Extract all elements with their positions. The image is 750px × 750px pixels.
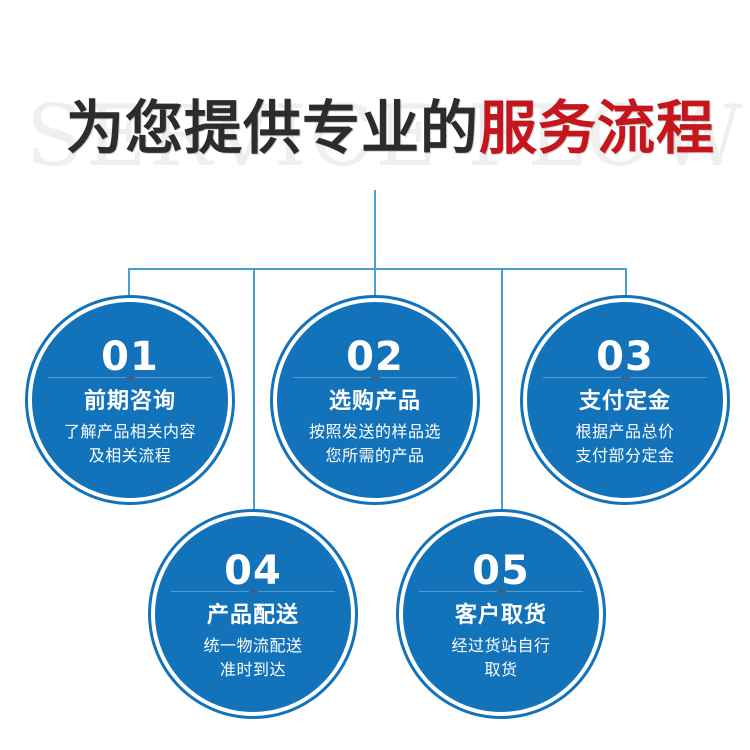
step-description-3-line-1: 根据产品总价 (539, 420, 712, 444)
service-flow-infographic: SERVICE FLOW 为您提供专业的服务流程 01 前期咨询 了解产品相关内… (0, 0, 750, 750)
step-dot-4 (249, 587, 258, 596)
step-dot-2 (371, 373, 380, 382)
step-description-2-line-1: 按照发送的样品选 (289, 420, 462, 444)
connector-drop-step-3 (625, 268, 627, 304)
connector-drop-step-1 (128, 268, 130, 304)
step-description-1-line-2: 及相关流程 (44, 444, 217, 468)
step-circle-2[interactable]: 02 选购产品 按照发送的样品选 您所需的产品 (277, 302, 473, 498)
title-block: SERVICE FLOW 为您提供专业的服务流程 (0, 82, 750, 192)
step-description-1: 了解产品相关内容 及相关流程 (44, 420, 217, 468)
connector-drop-step-2 (374, 268, 376, 304)
page-title: 为您提供专业的服务流程 (66, 96, 715, 160)
step-circle-3[interactable]: 03 支付定金 根据产品总价 支付部分定金 (527, 302, 723, 498)
step-dot-3 (621, 373, 630, 382)
step-description-4: 统一物流配送 准时到达 (167, 634, 340, 682)
step-description-5-line-2: 取货 (415, 658, 588, 682)
step-name-3: 支付定金 (527, 388, 723, 416)
step-name-5: 客户取货 (403, 602, 599, 630)
step-description-4-line-2: 准时到达 (167, 658, 340, 682)
step-description-3: 根据产品总价 支付部分定金 (539, 420, 712, 468)
connector-trunk-vertical (374, 190, 376, 270)
step-description-1-line-1: 了解产品相关内容 (44, 420, 217, 444)
step-description-2-line-2: 您所需的产品 (289, 444, 462, 468)
step-description-2: 按照发送的样品选 您所需的产品 (289, 420, 462, 468)
step-name-2: 选购产品 (277, 388, 473, 416)
step-name-1: 前期咨询 (32, 388, 228, 416)
connector-drop-step-4 (253, 268, 255, 516)
connector-horizontal-bar (128, 268, 627, 270)
step-circle-5[interactable]: 05 客户取货 经过货站自行 取货 (403, 516, 599, 712)
step-description-5-line-1: 经过货站自行 (415, 634, 588, 658)
step-description-4-line-1: 统一物流配送 (167, 634, 340, 658)
page-title-dark-part: 为您提供专业的 (66, 94, 479, 162)
step-dot-5 (497, 587, 506, 596)
step-description-5: 经过货站自行 取货 (415, 634, 588, 682)
step-circle-1[interactable]: 01 前期咨询 了解产品相关内容 及相关流程 (32, 302, 228, 498)
step-description-3-line-2: 支付部分定金 (539, 444, 712, 468)
page-title-red-part: 服务流程 (479, 94, 715, 162)
step-dot-1 (126, 373, 135, 382)
step-circle-4[interactable]: 04 产品配送 统一物流配送 准时到达 (155, 516, 351, 712)
step-name-4: 产品配送 (155, 602, 351, 630)
connector-drop-step-5 (501, 268, 503, 516)
